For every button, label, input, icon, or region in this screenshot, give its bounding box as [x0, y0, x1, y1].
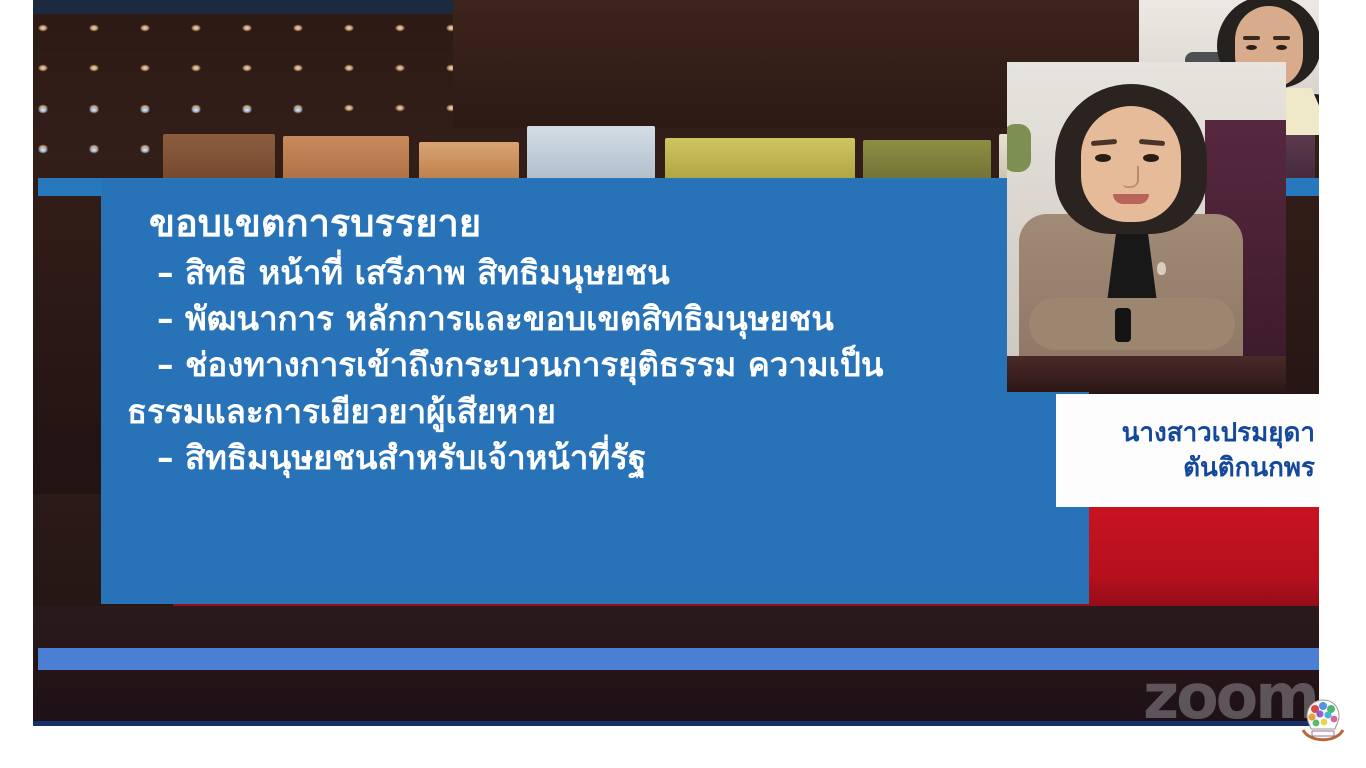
- slide-bullet-2: – พัฒนาการ หลักการและขอบเขตสิทธิมนุษยชน: [157, 298, 1063, 340]
- speaker-lapel-pin: [1157, 262, 1166, 275]
- participant-eye-right: [1276, 45, 1287, 50]
- participant-eye-left: [1246, 45, 1257, 50]
- slide-bullet-4: – สิทธิมนุษยชนสำหรับเจ้าหน้าที่รัฐ: [157, 437, 1063, 479]
- speaker-wristwatch: [1115, 308, 1131, 342]
- speaker-mouth: [1113, 194, 1149, 204]
- speaker-eye-left: [1095, 154, 1111, 162]
- zoom-meeting-stage: างาน zoom ขอบเขตการบรรยาย – สิทธิ หน้าที…: [0, 0, 1366, 768]
- speaker-name-line-2: ตันติกนกพร: [1183, 451, 1315, 485]
- slide-bullet-3: – ช่องทางการเข้าถึงกระบวนการยุติธรรม ควา…: [157, 344, 1063, 386]
- left-gutter: [0, 0, 33, 768]
- speaker-nose: [1123, 166, 1139, 188]
- organization-logo: [1296, 694, 1350, 748]
- slide-content-card: ขอบเขตการบรรยาย – สิทธิ หน้าที่ เสรีภาพ …: [101, 179, 1089, 604]
- slide-bullet-1: – สิทธิ หน้าที่ เสรีภาพ สิทธิมนุษยชน: [157, 252, 1063, 294]
- slide-bottom-rule: [38, 648, 1319, 670]
- desk-surface: [1007, 356, 1286, 392]
- participant-eyebrow-right: [1273, 36, 1290, 40]
- speaker-face: [1081, 106, 1181, 222]
- speaker-name-line-1: นางสาวเปรมยุดา: [1122, 416, 1315, 450]
- speaker-name-card: นางสาวเปรมยุดา ตันติกนกพร: [1056, 394, 1333, 507]
- slide-bullet-list: – สิทธิ หน้าที่ เสรีภาพ สิทธิมนุษยชน – พ…: [127, 252, 1063, 479]
- participant-eyebrow-left: [1243, 36, 1260, 40]
- slide-title: ขอบเขตการบรรยาย: [149, 201, 1063, 246]
- plant-shape: [1007, 124, 1031, 172]
- right-gutter: [1319, 0, 1366, 768]
- slide-bullet-3-wrap: ธรรมและการเยียวยาผู้เสียหาย: [127, 391, 1063, 433]
- bottom-gutter: [0, 726, 1366, 768]
- speaker-eye-right: [1143, 154, 1159, 162]
- zoom-watermark: zoom: [1143, 666, 1317, 726]
- speaker-crossed-arms: [1029, 298, 1235, 350]
- video-tile-active-speaker[interactable]: [1007, 62, 1286, 392]
